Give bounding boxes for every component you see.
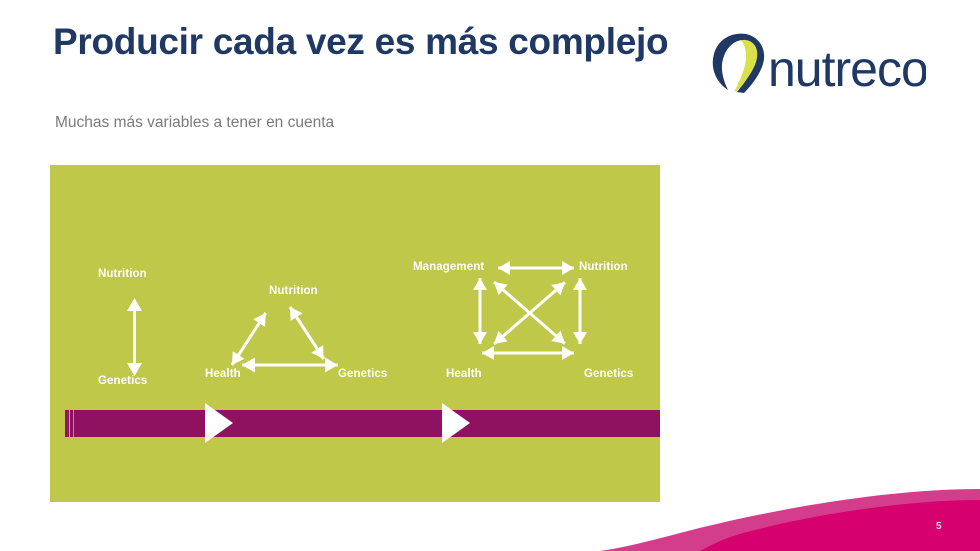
- nutreco-logo: nutreco: [702, 30, 926, 100]
- stage3-label-health: Health: [446, 368, 482, 380]
- arrow-nutrition-genetics: [573, 278, 587, 344]
- bar-body: [65, 410, 660, 437]
- stage3-arrows: [440, 258, 620, 368]
- progression-chevron-2: [442, 403, 470, 443]
- page-subtitle: Muchas más variables a tener en cuenta: [55, 114, 334, 132]
- arrow-shaft: [133, 306, 136, 368]
- arrow-management-health: [473, 278, 487, 344]
- arrow-health-genetics: [242, 358, 338, 373]
- bar-edge-stripe-2: [69, 410, 70, 437]
- bar-edge-stripe-4: [73, 410, 74, 437]
- stage3-label-genetics: Genetics: [584, 368, 633, 380]
- bar-edge-stripe-1: [67, 410, 68, 437]
- stage2-arrows: [200, 303, 400, 373]
- logo-wordmark: nutreco: [768, 41, 926, 97]
- progression-arrow-bar: [65, 410, 660, 437]
- content-panel: Nutrition Genetics Nutrition Health Gene…: [50, 165, 660, 502]
- progression-chevron-1: [205, 403, 233, 443]
- arrow-health-nutrition: [226, 309, 272, 369]
- arrow-management-nutrition: [498, 261, 574, 275]
- arrow-nutrition-genetics: [284, 303, 330, 363]
- page-number: 5: [936, 521, 942, 532]
- page-title: Producir cada vez es más complejo: [53, 20, 668, 64]
- arrow-health-genetics: [482, 346, 574, 360]
- nutreco-logo-svg: nutreco: [702, 30, 926, 100]
- slide-canvas: Producir cada vez es más complejo nutrec…: [0, 0, 980, 551]
- stage1-label-nutrition: Nutrition: [98, 268, 147, 280]
- stage1-label-genetics: Genetics: [98, 375, 147, 387]
- stage2-label-nutrition: Nutrition: [269, 285, 318, 297]
- bar-edge-stripe-3: [71, 410, 72, 437]
- arrow-head-up: [127, 298, 142, 311]
- stage1-double-arrow: [116, 298, 156, 376]
